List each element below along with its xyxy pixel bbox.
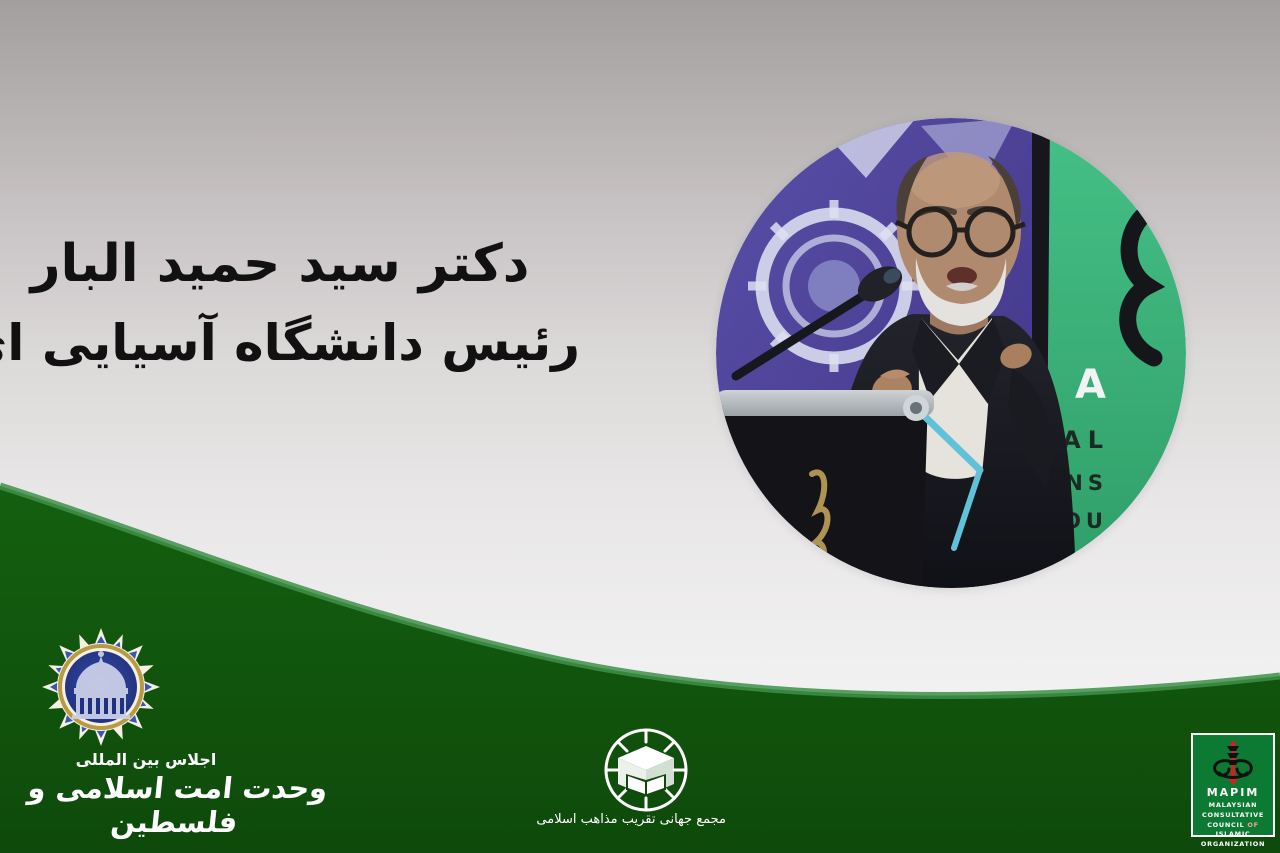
mapim-sub-3: COUNCIL OF (1193, 821, 1273, 831)
forum-emblem-icon (596, 726, 696, 814)
logo-mapim: MAPIM MALAYSIAN CONSULTATIVE COUNCIL OF … (1191, 733, 1275, 837)
mapim-emblem-icon (1207, 739, 1259, 785)
podium-top (716, 390, 934, 416)
backdrop-banner-text-5: IS (1075, 549, 1108, 573)
mapim-sub-2: CONSULTATIVE (1193, 811, 1273, 821)
conference-emblem-icon (40, 626, 162, 748)
mapim-sub-3a: COUNCIL (1207, 821, 1244, 829)
mapim-sub-5: ORGANIZATION (1193, 840, 1273, 850)
mapim-sub-1: MALAYSIAN (1193, 801, 1273, 811)
conference-line-top: اجلاس بین المللی (26, 750, 326, 769)
speaker-photo: M A MAL CONS COU IS (716, 118, 1186, 588)
mapim-subtitle: MALAYSIAN CONSULTATIVE COUNCIL OF ISLAMI… (1193, 801, 1273, 850)
conference-logo-text: اجلاس بین المللی وحدت امت اسلامی و فلسطی… (26, 750, 326, 839)
forum-caption: مجمع جهانی تقریب مذاهب اسلامی (566, 812, 726, 827)
conference-line-main: وحدت امت اسلامی و فلسطین (22, 771, 329, 839)
speaker-name: دکتر سید حمید البار (0, 228, 580, 302)
logo-conference: اجلاس بین المللی وحدت امت اسلامی و فلسطی… (26, 626, 326, 841)
mapim-wordmark: MAPIM (1193, 786, 1273, 799)
speaker-card: دکتر سید حمید البار رئیس دانشگاه آسیایی … (0, 0, 1280, 853)
mapim-sub-4: ISLAMIC (1193, 830, 1273, 840)
logo-forum: مجمع جهانی تقریب مذاهب اسلامی (566, 726, 726, 846)
mapim-sub-3b: OF (1247, 821, 1258, 829)
speaker-role: رئیس دانشگاه آسیایی ای-یو مالزی (0, 308, 580, 379)
speaker-title-block: دکتر سید حمید البار رئیس دانشگاه آسیایی … (0, 228, 580, 379)
